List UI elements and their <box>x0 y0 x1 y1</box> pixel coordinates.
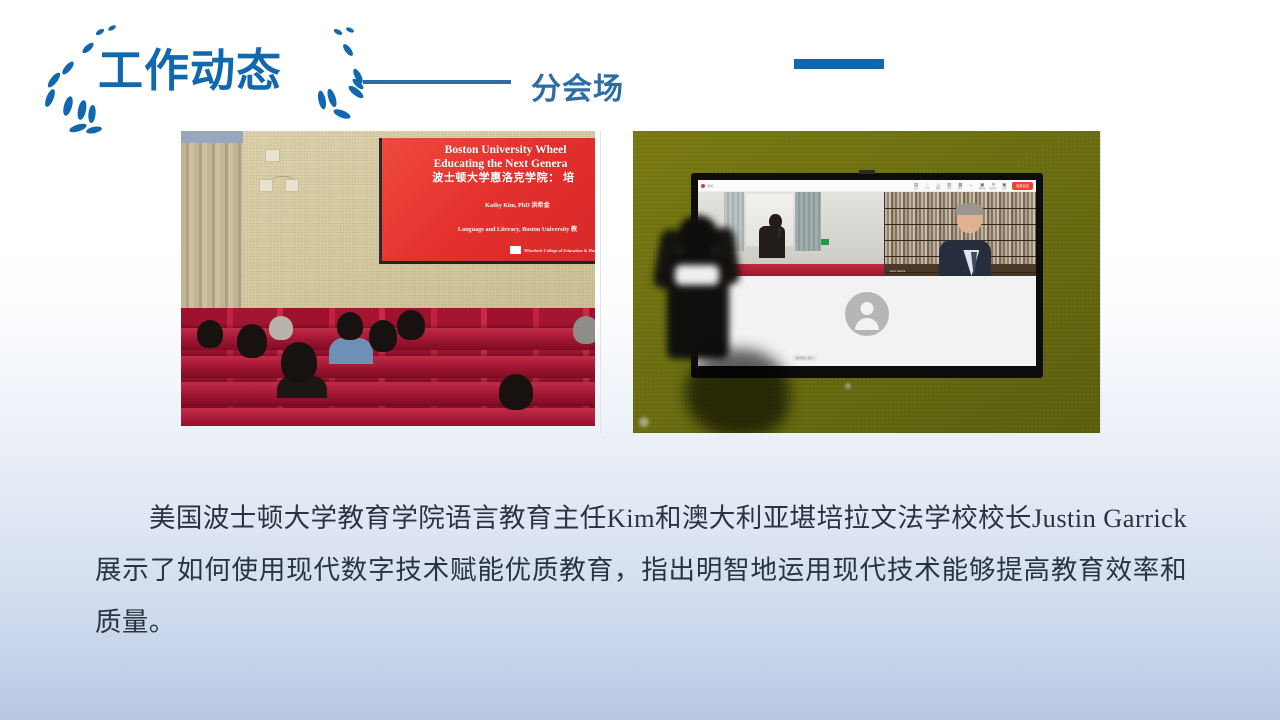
recording-indicator: 录制 <box>701 184 713 188</box>
chat-icon: △ <box>936 182 940 187</box>
toolbar-label: 布局 <box>947 188 952 190</box>
page-title: 工作动态 <box>98 42 282 102</box>
audience-member <box>281 342 317 382</box>
toolbar-item-share: ◌ 共享 <box>924 182 930 190</box>
toolbar-item-chat: △ 聊天 <box>935 182 941 190</box>
audience-member <box>269 316 293 340</box>
tile-curtain <box>795 192 821 251</box>
exit-sign-icon <box>821 239 829 245</box>
participant-tile-right: Justin Garrick <box>884 192 1036 276</box>
audience-member <box>197 320 223 348</box>
slide-title-line-1: Boston University Wheel <box>416 143 595 157</box>
audience-member <box>329 338 373 364</box>
stage-curtain <box>181 143 243 325</box>
toolbar-label: 聊天 <box>936 188 941 190</box>
person-avatar-icon <box>845 292 889 336</box>
auditorium-lecture-photo: Boston University Wheel Educating the Ne… <box>181 131 595 426</box>
tile-speaker-body <box>759 226 785 258</box>
more-icon: ▦ <box>958 182 962 187</box>
video-call-toolbar: 录制 ▤ 成员 ◌ 共享 <box>698 180 1036 192</box>
audience-seating <box>181 308 595 426</box>
camera-icon: ▣ <box>980 182 984 187</box>
subtitle-rule <box>363 80 511 84</box>
wall-fixture <box>845 383 851 389</box>
video-conference-display-photo: 录制 ▤ 成员 ◌ 共享 <box>633 131 1101 433</box>
toolbar-item-members: ▤ 成员 <box>913 182 919 190</box>
toolbar-label: 更多 <box>958 188 963 190</box>
projection-screen: Boston University Wheel Educating the Ne… <box>379 138 595 264</box>
toolbar-icon-group: ▤ 成员 ◌ 共享 △ 聊天 <box>913 182 1033 190</box>
slide-affiliation: Language and Literacy, Boston University… <box>440 226 595 234</box>
wall-mounted-display: 录制 ▤ 成员 ◌ 共享 <box>691 173 1043 378</box>
slide-paragraph: 美国波士顿大学教育学院语言教育主任Kim和澳大利亚堪培拉文法学校校长Justin… <box>95 492 1187 648</box>
toolbar-item-camera: ▣ 摄像头 <box>979 182 985 190</box>
photo-gallery: Boston University Wheel Educating the Ne… <box>181 131 1101 433</box>
wall-speaker-panel <box>265 149 280 162</box>
members-icon: ▤ <box>914 182 918 187</box>
audience-member <box>573 316 595 344</box>
tile-red-seats <box>698 264 884 276</box>
slide-title-line-3-cn: 波士顿大学惠洛克学院： 培 <box>412 171 595 186</box>
handheld-microphone-icon <box>778 227 781 237</box>
silhouette-arm <box>652 228 682 291</box>
gear-icon: ▣ <box>1002 182 1006 187</box>
olive-wall: 录制 ▤ 成员 ◌ 共享 <box>633 131 1101 433</box>
audience-member <box>369 320 397 352</box>
auditorium-scene: Boston University Wheel Educating the Ne… <box>181 131 595 426</box>
toolbar-label: 麦克风 <box>990 188 997 190</box>
audience-member <box>499 374 533 410</box>
slide-title-line-2: Educating the Next Genera <box>406 157 595 171</box>
tile-name-label: 主会场 <box>702 259 710 263</box>
participant-tiles: 主会场 <box>698 192 1036 276</box>
share-icon: ◌ <box>926 182 929 187</box>
wall-speaker-panel <box>285 179 299 192</box>
display-screen: 录制 ▤ 成员 ◌ 共享 <box>698 180 1036 366</box>
presentation-slide: 工作动态 分会场 <box>0 0 1280 720</box>
seat-row <box>181 408 595 426</box>
tile-curtain <box>724 192 744 251</box>
participant-hair <box>956 203 983 215</box>
toolbar-item-layout: ▥ 布局 <box>946 182 952 190</box>
seat-row <box>181 356 595 378</box>
leave-meeting-button: 结束会议 <box>1012 182 1033 190</box>
participant-tile-left: 主会场 <box>698 192 884 276</box>
toolbar-item-more: ▦ 更多 <box>957 182 963 190</box>
chevron-down-icon: ⌄ <box>969 182 973 187</box>
accent-bar <box>794 59 884 69</box>
toolbar-label: 共享 <box>925 188 930 190</box>
page-title-text: 工作动态 <box>98 42 282 100</box>
layout-icon: ▥ <box>947 182 951 187</box>
logo-mark-icon <box>510 246 521 254</box>
floor-object <box>639 417 649 427</box>
toolbar-item-chevron: ⌄ <box>968 182 974 190</box>
leaf-cluster-icon-right <box>318 18 408 136</box>
audience-member <box>337 312 363 340</box>
photo-divider <box>600 131 601 433</box>
record-label: 录制 <box>707 184 713 188</box>
projection-slide: Boston University Wheel Educating the Ne… <box>382 138 595 261</box>
wall-speaker-panel <box>259 179 273 192</box>
audience-member <box>237 324 267 358</box>
tile-name-label: Justin Garrick <box>889 270 905 273</box>
audience-member <box>397 310 425 340</box>
toolbar-label: 成员 <box>914 188 919 190</box>
slide-subtitle: 分会场 <box>531 72 624 108</box>
slide-logo: Wheelock College of Education & Human De… <box>510 246 595 254</box>
display-camera-icon <box>859 170 875 174</box>
microphone-icon: ⚲ <box>992 182 995 187</box>
toolbar-item-microphone: ⚲ 麦克风 <box>990 182 996 190</box>
participant-suit <box>939 240 991 276</box>
record-dot-icon <box>701 184 705 188</box>
slide-header: 工作动态 分会场 <box>0 0 1280 140</box>
toolbar-label: 摄像头 <box>979 188 986 190</box>
toolbar-label: 设置 <box>1002 188 1007 190</box>
slide-logo-text: Wheelock College of Education & Human De… <box>524 248 595 253</box>
toolbar-item-settings: ▣ 设置 <box>1001 182 1007 190</box>
photo-frame-edge <box>1100 131 1101 433</box>
main-stage-area: 等待他人加入 <box>698 276 1036 366</box>
stage-status-chip: 等待他人加入 <box>793 355 817 361</box>
slide-presenter: Kathy Kim, PhD 洪希金 <box>440 202 595 210</box>
